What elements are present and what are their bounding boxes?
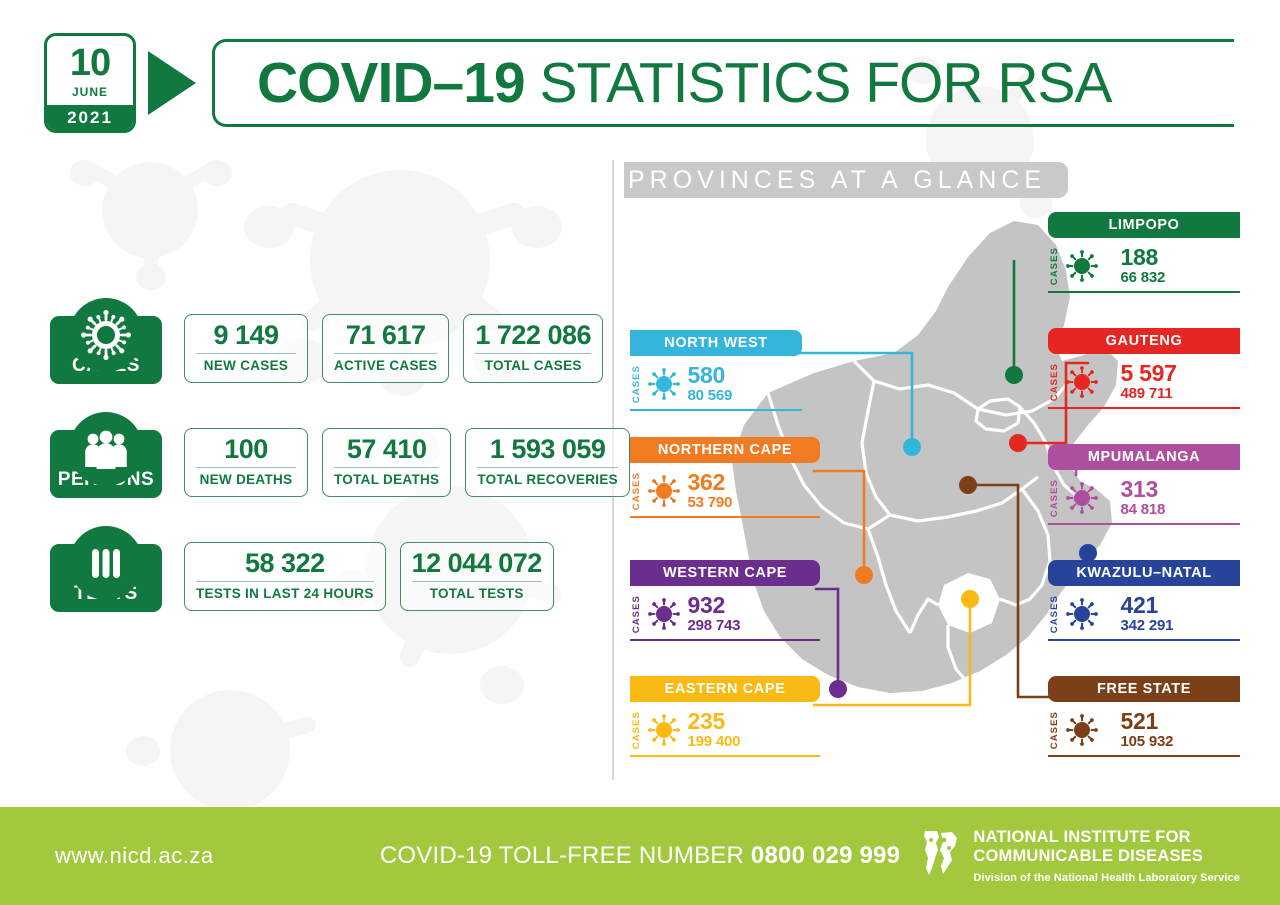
watermark-virus-small-top: [60, 120, 240, 300]
province-numbers: 188 66 832: [1121, 245, 1166, 286]
divider: [475, 353, 591, 354]
cases-label: CASES: [1050, 247, 1060, 285]
stat-row-tests: TESTS 58 322 TESTS IN LAST 24 HOURS: [50, 526, 630, 612]
stat-label: TOTAL RECOVERIES: [477, 472, 618, 488]
province-numbers: 362 53 790: [688, 470, 733, 511]
cases-label: CASES: [632, 365, 642, 403]
arrow-right-icon: [148, 51, 196, 115]
cases-label: CASES: [1050, 711, 1060, 749]
date-year: 2021: [47, 105, 133, 133]
stat-value: 58 322: [196, 549, 374, 577]
province-card-kwazulu-natal[interactable]: KWAZULU–NATAL CASES 421 342 291: [1048, 560, 1240, 641]
province-total-cases: 298 743: [688, 617, 741, 634]
date-day: 10: [70, 44, 110, 82]
province-new-cases: 521: [1121, 709, 1174, 733]
stat-value: 1 593 059: [477, 435, 618, 463]
page-footer: www.nicd.ac.za COVID-19 TOLL-FREE NUMBER…: [0, 807, 1280, 905]
province-new-cases: 932: [688, 593, 741, 617]
date-badge: 10 JUNE 2021: [44, 33, 136, 133]
stat-label: TOTAL TESTS: [412, 586, 542, 602]
test-tubes-icon: [69, 526, 143, 600]
divider: [630, 755, 820, 757]
province-numbers: 5 597 489 711: [1121, 361, 1177, 402]
province-total-cases: 66 832: [1121, 269, 1166, 286]
province-numbers: 421 342 291: [1121, 593, 1174, 634]
province-body: CASES 521 105 932: [1048, 702, 1240, 755]
province-new-cases: 362: [688, 470, 733, 494]
stat-value: 57 410: [334, 435, 439, 463]
divider: [196, 581, 374, 582]
province-body: CASES 188 66 832: [1048, 238, 1240, 291]
stat-box: 12 044 072 TOTAL TESTS: [400, 542, 554, 611]
stat-label: NEW DEATHS: [196, 472, 296, 488]
province-card-western-cape[interactable]: WESTERN CAPE CASES 932 298 743: [630, 560, 820, 641]
province-name: WESTERN CAPE: [663, 565, 787, 581]
title-box: COVID–19 STATISTICS FOR RSA: [212, 39, 1234, 127]
org-division: Division of the National Health Laborato…: [973, 872, 1240, 884]
cases-label: CASES: [1050, 363, 1060, 401]
org-name-line1: NATIONAL INSTITUTE FOR: [973, 828, 1240, 847]
province-numbers: 235 199 400: [688, 709, 741, 750]
province-body: CASES 580 80 569: [630, 356, 802, 409]
divider: [412, 581, 542, 582]
province-card-northern-cape[interactable]: NORTHERN CAPE CASES 362 53 790: [630, 437, 820, 518]
stat-box: 1 593 059 TOTAL RECOVERIES: [465, 428, 630, 497]
divider: [334, 467, 439, 468]
province-numbers: 580 80 569: [688, 363, 733, 404]
cases-label: CASES: [1050, 595, 1060, 633]
province-card-free-state[interactable]: FREE STATE CASES 521 105 932: [1048, 676, 1240, 757]
stat-label: TESTS IN LAST 24 HOURS: [196, 586, 374, 602]
province-name: EASTERN CAPE: [665, 681, 786, 697]
virus-icon: [1065, 597, 1099, 631]
provinces-banner: PROVINCES AT A GLANCE: [624, 162, 1068, 198]
stat-value: 100: [196, 435, 296, 463]
divider: [334, 353, 437, 354]
stat-boxes-cases: 9 149 NEW CASES 71 617 ACTIVE CASES 1 72…: [184, 298, 603, 383]
province-body: CASES 5 597 489 711: [1048, 354, 1240, 407]
province-total-cases: 80 569: [688, 387, 733, 404]
province-card-gauteng[interactable]: GAUTENG CASES 5 597 489 711: [1048, 328, 1240, 409]
province-name: MPUMALANGA: [1088, 449, 1200, 465]
province-body: CASES 313 84 818: [1048, 470, 1240, 523]
org-name-line2: COMMUNICABLE DISEASES: [973, 847, 1240, 866]
category-persons: PERSONS: [50, 412, 162, 498]
province-header: KWAZULU–NATAL: [1048, 560, 1240, 586]
virus-icon: [69, 298, 143, 372]
cases-label: CASES: [632, 711, 642, 749]
stat-label: TOTAL CASES: [475, 358, 591, 374]
category-cases: CASES: [50, 298, 162, 384]
virus-icon: [1065, 249, 1099, 283]
province-total-cases: 105 932: [1121, 733, 1174, 750]
stat-label: NEW CASES: [196, 358, 296, 374]
province-new-cases: 235: [688, 709, 741, 733]
stat-value: 71 617: [334, 321, 437, 349]
province-card-mpumalanga[interactable]: MPUMALANGA CASES 313 84 818: [1048, 444, 1240, 525]
toll-free-digits: 0800 029 999: [751, 842, 900, 869]
province-header: MPUMALANGA: [1048, 444, 1240, 470]
stat-boxes-tests: 58 322 TESTS IN LAST 24 HOURS 12 044 072…: [184, 526, 554, 611]
stat-label: ACTIVE CASES: [334, 358, 437, 374]
stat-box: 1 722 086 TOTAL CASES: [463, 314, 603, 383]
province-new-cases: 188: [1121, 245, 1166, 269]
province-card-eastern-cape[interactable]: EASTERN CAPE CASES 235 199 400: [630, 676, 820, 757]
divider: [630, 639, 820, 641]
province-total-cases: 84 818: [1121, 501, 1166, 518]
province-header: NORTHERN CAPE: [630, 437, 820, 463]
province-card-limpopo[interactable]: LIMPOPO CASES 188 66 832: [1048, 212, 1240, 293]
province-body: CASES 932 298 743: [630, 586, 820, 639]
statistics-panel: CASES: [50, 298, 630, 612]
nicd-logo: NATIONAL INSTITUTE FOR COMMUNICABLE DISE…: [919, 828, 1240, 885]
cases-label: CASES: [1050, 479, 1060, 517]
province-body: CASES 421 342 291: [1048, 586, 1240, 639]
stat-box: 9 149 NEW CASES: [184, 314, 308, 383]
divider: [630, 409, 802, 411]
page-header: 10 JUNE 2021 COVID–19 STATISTICS FOR RSA: [44, 33, 1234, 133]
province-total-cases: 489 711: [1121, 385, 1177, 402]
cases-label: CASES: [632, 595, 642, 633]
province-name: FREE STATE: [1097, 681, 1191, 697]
province-total-cases: 342 291: [1121, 617, 1174, 634]
divider: [196, 353, 296, 354]
virus-icon: [647, 474, 681, 508]
stat-box: 57 410 TOTAL DEATHS: [322, 428, 451, 497]
stat-label: TOTAL DEATHS: [334, 472, 439, 488]
stat-value: 1 722 086: [475, 321, 591, 349]
divider: [1048, 639, 1240, 641]
province-header: NORTH WEST: [630, 330, 802, 356]
province-numbers: 521 105 932: [1121, 709, 1174, 750]
province-new-cases: 580: [688, 363, 733, 387]
province-header: LIMPOPO: [1048, 212, 1240, 238]
province-header: FREE STATE: [1048, 676, 1240, 702]
province-new-cases: 421: [1121, 593, 1174, 617]
stat-row-persons: PERSONS 100 NEW DEA: [50, 412, 630, 498]
virus-icon: [647, 367, 681, 401]
category-tests: TESTS: [50, 526, 162, 612]
people-icon: [69, 412, 143, 486]
province-numbers: 313 84 818: [1121, 477, 1166, 518]
virus-icon: [647, 597, 681, 631]
page-title-light: STATISTICS FOR RSA: [539, 51, 1111, 115]
province-name: NORTHERN CAPE: [658, 442, 792, 458]
date-month: JUNE: [72, 85, 108, 99]
divider: [630, 516, 820, 518]
africa-map-icon: [919, 828, 963, 878]
divider: [1048, 291, 1240, 293]
divider: [1048, 523, 1240, 525]
province-card-north-west[interactable]: NORTH WEST CASES 580 80 569: [630, 330, 802, 411]
stat-boxes-persons: 100 NEW DEATHS 57 410 TOTAL DEATHS 1 593…: [184, 412, 630, 497]
toll-free-label: COVID-19 TOLL-FREE NUMBER: [380, 842, 751, 869]
virus-icon: [1065, 365, 1099, 399]
stat-box: 71 617 ACTIVE CASES: [322, 314, 449, 383]
province-total-cases: 199 400: [688, 733, 741, 750]
province-name: LIMPOPO: [1108, 217, 1179, 233]
province-name: KWAZULU–NATAL: [1076, 565, 1211, 581]
virus-icon: [647, 713, 681, 747]
stat-value: 12 044 072: [412, 549, 542, 577]
divider: [1048, 407, 1240, 409]
divider: [196, 467, 296, 468]
province-name: GAUTENG: [1106, 333, 1183, 349]
page-title-bold: COVID–19: [257, 51, 525, 115]
stat-row-cases: CASES: [50, 298, 630, 384]
province-new-cases: 5 597: [1121, 361, 1177, 385]
stat-value: 9 149: [196, 321, 296, 349]
province-body: CASES 362 53 790: [630, 463, 820, 516]
virus-icon: [1065, 713, 1099, 747]
divider: [477, 467, 618, 468]
province-header: WESTERN CAPE: [630, 560, 820, 586]
virus-icon: [1065, 481, 1099, 515]
province-name: NORTH WEST: [664, 335, 767, 351]
province-total-cases: 53 790: [688, 494, 733, 511]
province-numbers: 932 298 743: [688, 593, 741, 634]
provinces-banner-label: PROVINCES AT A GLANCE: [628, 166, 1046, 195]
province-body: CASES 235 199 400: [630, 702, 820, 755]
nicd-logo-text: NATIONAL INSTITUTE FOR COMMUNICABLE DISE…: [973, 828, 1240, 885]
province-new-cases: 313: [1121, 477, 1166, 501]
cases-label: CASES: [632, 472, 642, 510]
stat-box: 58 322 TESTS IN LAST 24 HOURS: [184, 542, 386, 611]
page-title: COVID–19 STATISTICS FOR RSA: [257, 55, 1112, 112]
divider: [1048, 755, 1240, 757]
province-header: GAUTENG: [1048, 328, 1240, 354]
stat-box: 100 NEW DEATHS: [184, 428, 308, 497]
province-header: EASTERN CAPE: [630, 676, 820, 702]
